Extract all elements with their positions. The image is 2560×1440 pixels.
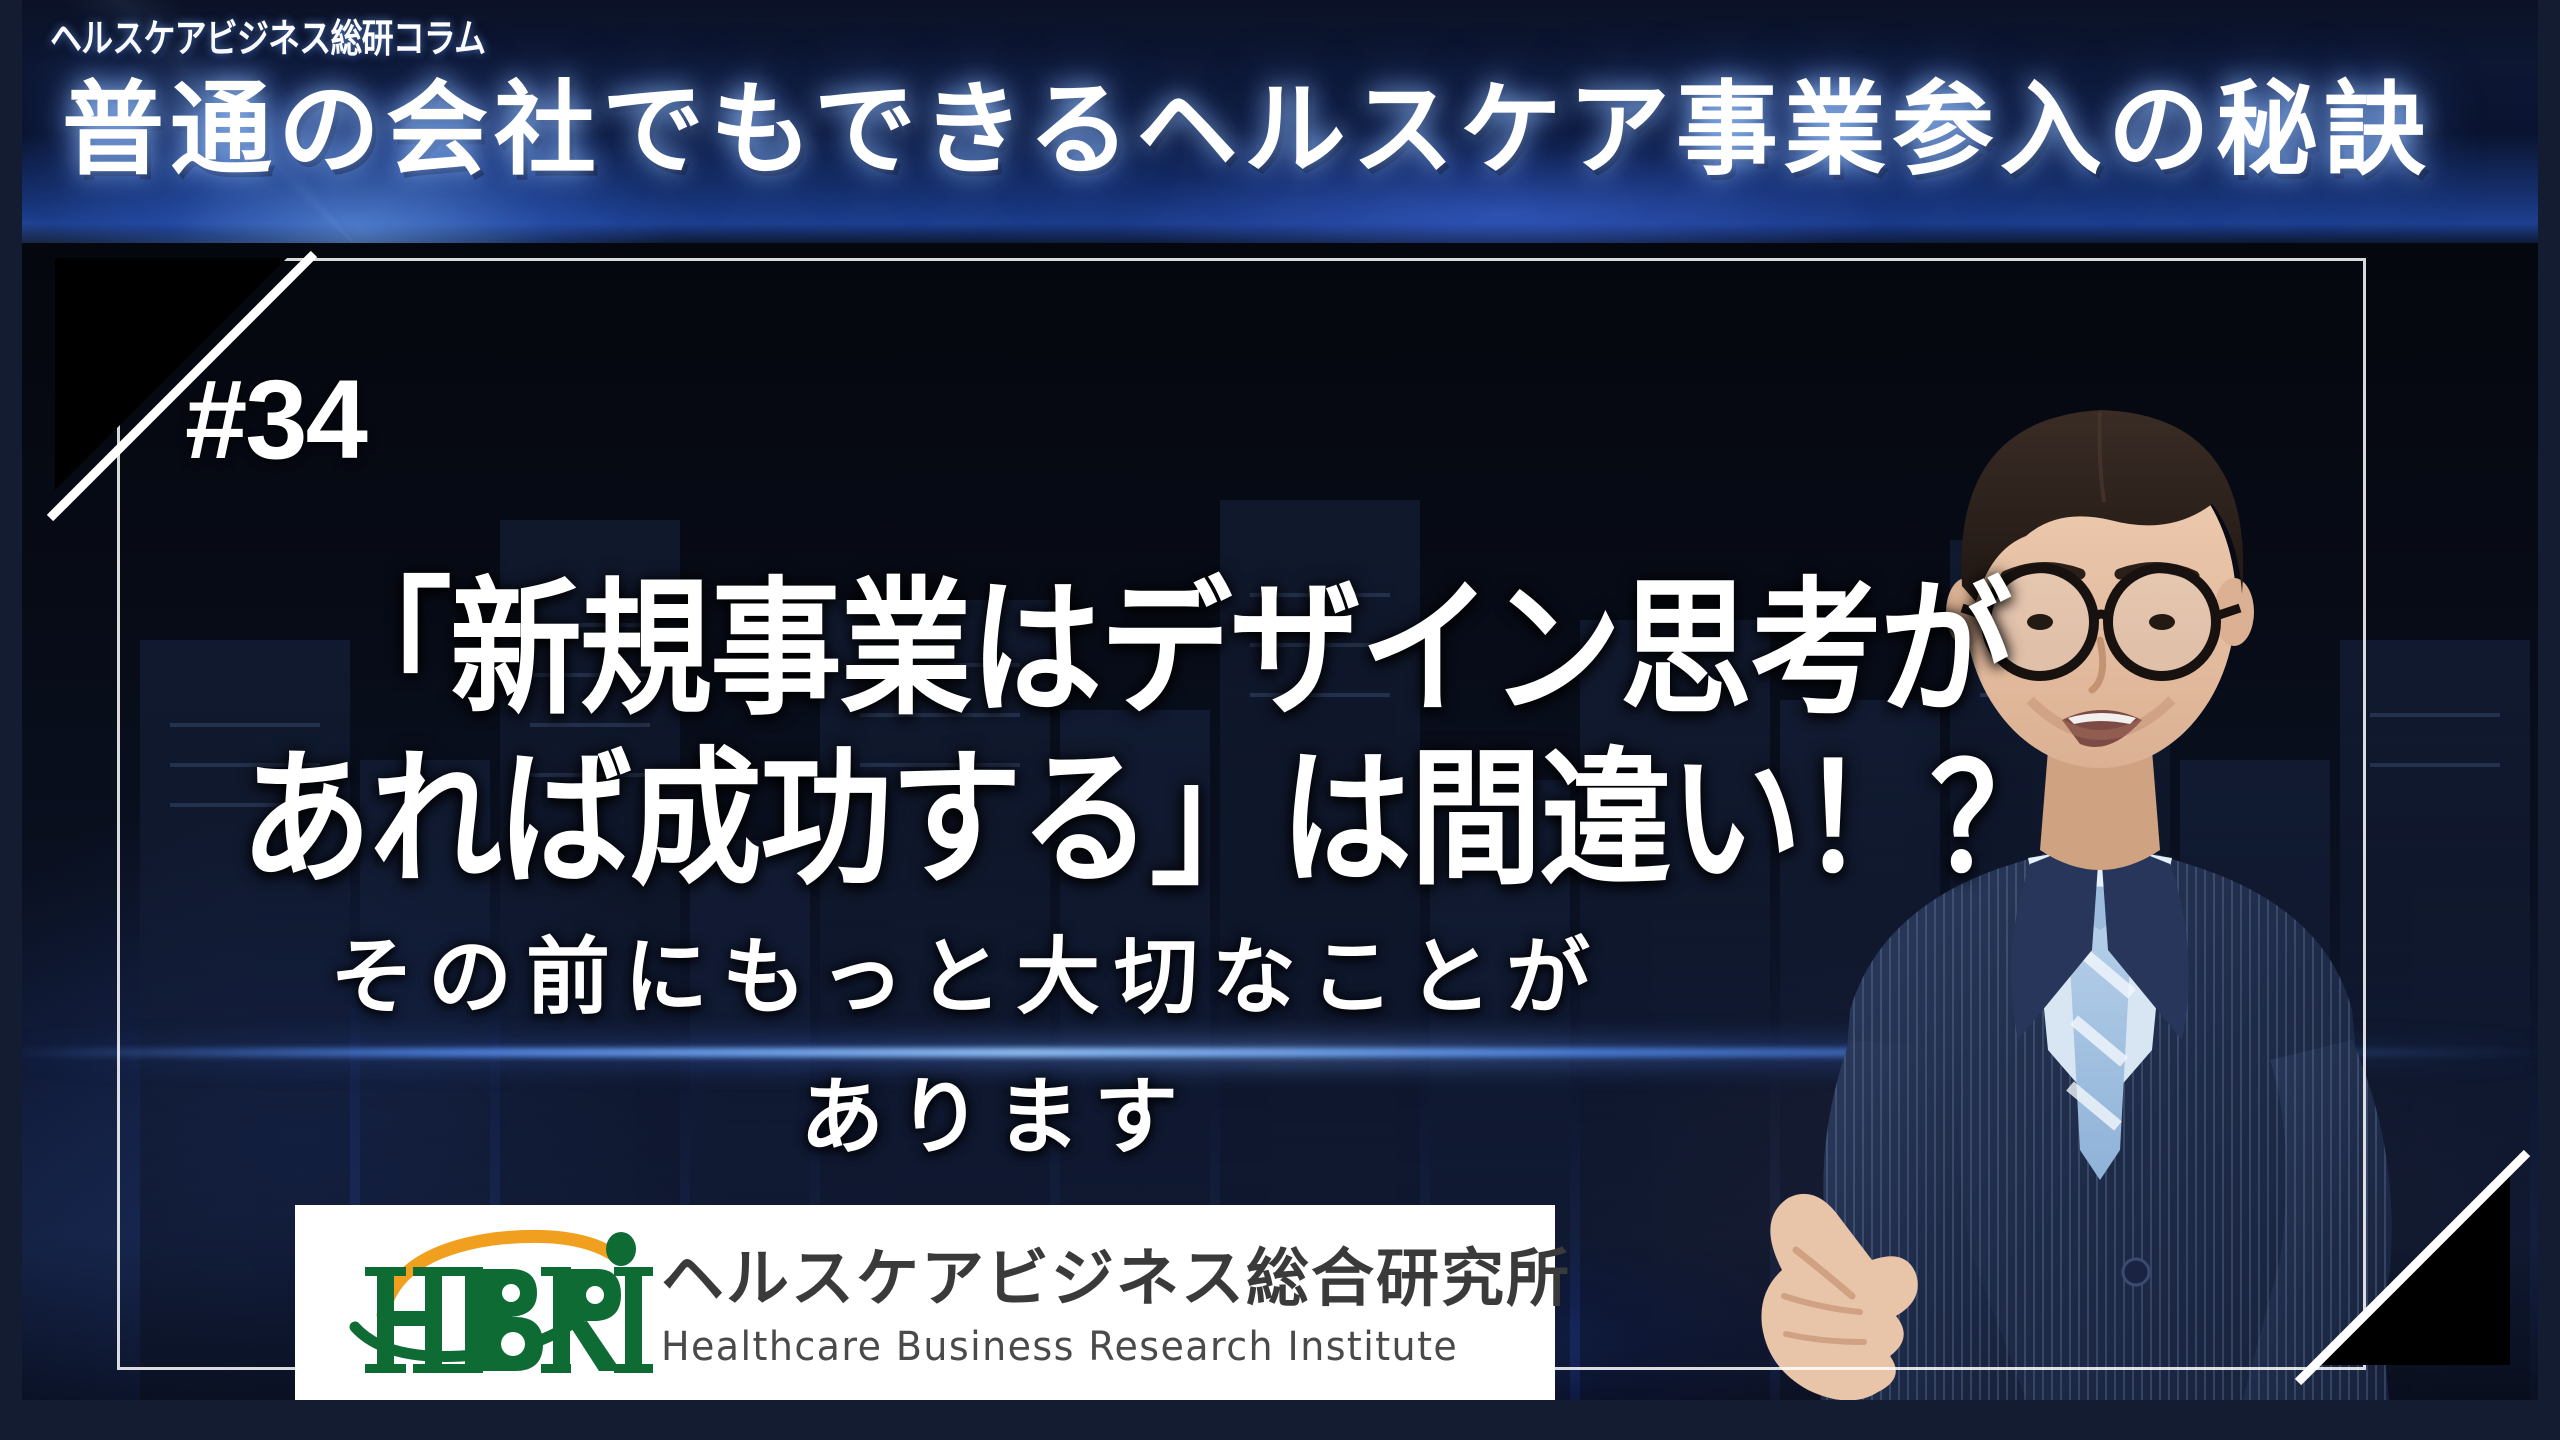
light-streak [0,1048,2560,1057]
headline-line-2: あれば成功する」は間違い！？ [240,700,2060,914]
episode-number: #34 [185,355,366,484]
logo-name-japanese: ヘルスケアビジネス総合研究所 [661,1245,1571,1313]
logo-text-block: ヘルスケアビジネス総合研究所 Healthcare Business Resea… [661,1245,1571,1369]
logo-name-english: Healthcare Business Research Institute [661,1324,1526,1370]
outer-border-left [0,0,22,1440]
hbri-logo-mark-icon [325,1223,655,1393]
thumbnail-canvas: ヘルスケアビジネス総研コラム 普通の会社でもできるヘルスケア事業参入の秘訣 [0,0,2560,1440]
logo-panel: ヘルスケアビジネス総合研究所 Healthcare Business Resea… [295,1205,1555,1410]
subheadline-line-1: その前にもっと大切なことが [330,910,1604,1031]
outer-border-right [2538,0,2560,1440]
outer-border-bottom [0,1400,2560,1440]
header-band: ヘルスケアビジネス総研コラム 普通の会社でもできるヘルスケア事業参入の秘訣 [0,0,2560,243]
header-title: 普通の会社でもできるヘルスケア事業参入の秘訣 [62,48,2512,195]
subheadline-line-2: あります [800,1050,1192,1171]
